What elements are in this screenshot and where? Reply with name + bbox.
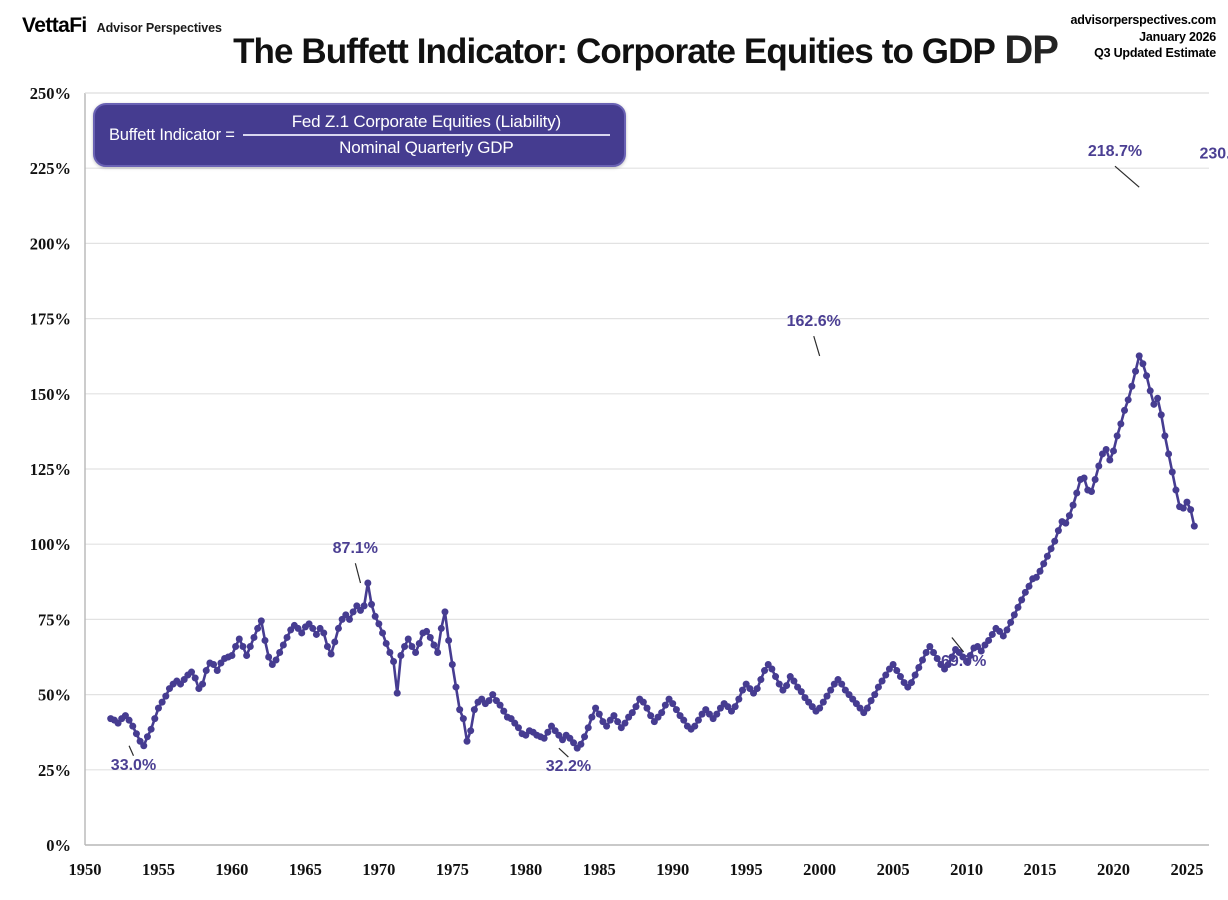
data-point (368, 601, 375, 608)
data-point (577, 741, 584, 748)
data-point (757, 676, 764, 683)
data-point (298, 629, 305, 636)
data-point (1073, 490, 1080, 497)
data-point (159, 699, 166, 706)
x-axis-tick-label: 1955 (142, 860, 175, 879)
data-point (1183, 499, 1190, 506)
data-point (471, 706, 478, 713)
data-point (585, 724, 592, 731)
data-point (735, 696, 742, 703)
data-point (144, 733, 151, 740)
x-axis-tick-label: 1950 (69, 860, 102, 879)
data-point (379, 629, 386, 636)
y-axis-tick-label: 150% (30, 385, 71, 404)
data-point (596, 711, 603, 718)
data-point (276, 649, 283, 656)
data-point (1048, 545, 1055, 552)
data-point (1037, 568, 1044, 575)
data-point (408, 643, 415, 650)
annotation-leader-line (355, 563, 360, 583)
data-point (926, 643, 933, 650)
data-point (1051, 538, 1058, 545)
data-point (934, 655, 941, 662)
data-point (515, 724, 522, 731)
data-point (1003, 626, 1010, 633)
data-point (331, 638, 338, 645)
data-point (1165, 450, 1172, 457)
data-point (1092, 476, 1099, 483)
data-point (1169, 469, 1176, 476)
data-point (412, 649, 419, 656)
data-annotation-label: 32.2% (546, 758, 591, 775)
data-point (1066, 512, 1073, 519)
data-point (1114, 432, 1121, 439)
data-point (581, 733, 588, 740)
data-point (1095, 462, 1102, 469)
data-point (239, 643, 246, 650)
data-point (350, 608, 357, 615)
data-point (732, 703, 739, 710)
data-point (280, 641, 287, 648)
data-point (383, 640, 390, 647)
data-point (236, 635, 243, 642)
y-axis-tick-label: 75% (38, 610, 71, 629)
data-point (644, 705, 651, 712)
data-point (1011, 611, 1018, 618)
data-point (871, 691, 878, 698)
data-point (261, 637, 268, 644)
data-point (445, 637, 452, 644)
x-axis-tick-label: 1975 (436, 860, 469, 879)
data-annotation-label: 162.6% (787, 313, 841, 330)
data-point (460, 715, 467, 722)
data-point (416, 640, 423, 647)
data-point (335, 625, 342, 632)
data-point (1040, 560, 1047, 567)
data-point (232, 643, 239, 650)
data-point (816, 705, 823, 712)
data-annotation-label: 33.0% (111, 757, 156, 774)
data-point (838, 681, 845, 688)
data-point (1026, 583, 1033, 590)
data-point (467, 727, 474, 734)
x-axis-tick-label: 2025 (1170, 860, 1203, 879)
data-point (1088, 488, 1095, 495)
data-point (1128, 383, 1135, 390)
data-point (497, 702, 504, 709)
data-annotation-label: 218.7% (1088, 143, 1142, 160)
y-axis-tick-label: 0% (46, 836, 71, 855)
data-point (713, 711, 720, 718)
data-point (603, 723, 610, 730)
data-point (647, 712, 654, 719)
data-point (1172, 487, 1179, 494)
data-point (372, 613, 379, 620)
data-point (456, 706, 463, 713)
data-point (673, 706, 680, 713)
data-point (1143, 372, 1150, 379)
data-point (827, 687, 834, 694)
data-point (243, 652, 250, 659)
data-point (133, 730, 140, 737)
data-point (441, 608, 448, 615)
data-point (691, 723, 698, 730)
data-point (882, 672, 889, 679)
data-point (544, 729, 551, 736)
data-point (126, 717, 133, 724)
data-point (1158, 411, 1165, 418)
data-point (629, 709, 636, 716)
x-axis-tick-label: 1985 (583, 860, 616, 879)
data-point (1139, 360, 1146, 367)
y-axis-tick-label: 125% (30, 460, 71, 479)
data-point (1070, 502, 1077, 509)
data-point (614, 718, 621, 725)
data-point (1044, 553, 1051, 560)
data-point (324, 643, 331, 650)
x-axis-tick-label: 1960 (215, 860, 248, 879)
y-axis-tick-label: 25% (38, 761, 71, 780)
data-point (452, 684, 459, 691)
y-axis-tick-label: 100% (30, 535, 71, 554)
formula-callout-box: Buffett Indicator = Fed Z.1 Corporate Eq… (93, 103, 626, 167)
data-point (188, 669, 195, 676)
data-point (449, 661, 456, 668)
data-point (148, 726, 155, 733)
data-point (985, 637, 992, 644)
data-point (1000, 632, 1007, 639)
data-point (1033, 574, 1040, 581)
data-point (923, 649, 930, 656)
data-point (897, 673, 904, 680)
data-point (820, 699, 827, 706)
data-point (394, 690, 401, 697)
data-point (588, 714, 595, 721)
data-point (908, 679, 915, 686)
data-point (1062, 520, 1069, 527)
data-point (228, 652, 235, 659)
data-point (199, 681, 206, 688)
data-point (427, 634, 434, 641)
data-point (1022, 589, 1029, 596)
data-point (754, 685, 761, 692)
data-point (680, 717, 687, 724)
data-point (1180, 505, 1187, 512)
data-point (1103, 446, 1110, 453)
data-point (1187, 506, 1194, 513)
x-axis-tick-label: 1995 (730, 860, 763, 879)
data-annotation-label: 230.3% (1199, 145, 1228, 162)
x-axis-tick-label: 2005 (877, 860, 910, 879)
formula-numerator: Fed Z.1 Corporate Equities (Liability) (292, 112, 561, 133)
data-point (214, 667, 221, 674)
data-point (823, 693, 830, 700)
data-point (768, 666, 775, 673)
data-point (464, 738, 471, 745)
data-point (364, 580, 371, 587)
data-point (438, 625, 445, 632)
data-point (1150, 401, 1157, 408)
data-point (658, 709, 665, 716)
data-point (1014, 604, 1021, 611)
y-axis-tick-label: 200% (30, 234, 71, 253)
data-point (397, 652, 404, 659)
data-point (386, 649, 393, 656)
data-point (640, 699, 647, 706)
data-point (1117, 420, 1124, 427)
x-axis-tick-label: 2010 (950, 860, 983, 879)
annotation-leader-line (129, 746, 133, 756)
data-point (320, 629, 327, 636)
x-axis-tick-label: 2020 (1097, 860, 1130, 879)
data-point (592, 705, 599, 712)
data-point (155, 705, 162, 712)
data-point (1125, 396, 1132, 403)
data-point (250, 634, 257, 641)
data-point (500, 708, 507, 715)
data-point (140, 742, 147, 749)
data-point (401, 643, 408, 650)
data-point (541, 735, 548, 742)
data-point (621, 720, 628, 727)
formula-label: Buffett Indicator = (109, 126, 235, 145)
data-point (1106, 456, 1113, 463)
data-annotation-label: 87.1% (333, 540, 378, 557)
data-point (284, 634, 291, 641)
data-point (1132, 368, 1139, 375)
data-point (129, 723, 136, 730)
y-axis-tick-label: 225% (30, 159, 71, 178)
data-point (783, 682, 790, 689)
data-point (258, 617, 265, 624)
data-point (761, 667, 768, 674)
x-axis-tick-label: 2000 (803, 860, 836, 879)
data-point (868, 697, 875, 704)
data-point (864, 705, 871, 712)
data-point (313, 631, 320, 638)
data-point (879, 678, 886, 685)
data-point (254, 625, 261, 632)
data-annotation-label: 69.0% (941, 653, 986, 670)
series-line (111, 356, 1195, 748)
data-point (1018, 596, 1025, 603)
formula-denominator: Nominal Quarterly GDP (339, 138, 513, 158)
data-point (361, 602, 368, 609)
data-point (772, 673, 779, 680)
data-point (430, 641, 437, 648)
data-point (915, 664, 922, 671)
annotation-leader-line (814, 336, 820, 356)
data-point (890, 661, 897, 668)
data-point (798, 688, 805, 695)
data-point (669, 700, 676, 707)
x-axis-tick-label: 2015 (1024, 860, 1057, 879)
data-point (423, 628, 430, 635)
data-point (390, 658, 397, 665)
data-point (151, 715, 158, 722)
data-point (1161, 432, 1168, 439)
data-point (489, 691, 496, 698)
x-axis-tick-label: 1990 (656, 860, 689, 879)
data-point (434, 649, 441, 656)
data-point (1110, 447, 1117, 454)
data-point (695, 717, 702, 724)
data-point (309, 625, 316, 632)
data-point (662, 702, 669, 709)
data-point (989, 631, 996, 638)
data-point (875, 684, 882, 691)
data-point (1147, 387, 1154, 394)
data-point (1081, 475, 1088, 482)
data-point (1007, 619, 1014, 626)
data-point (1191, 523, 1198, 530)
data-point (893, 667, 900, 674)
data-point (375, 620, 382, 627)
data-point (328, 650, 335, 657)
data-point (610, 712, 617, 719)
data-point (790, 678, 797, 685)
data-point (1136, 352, 1143, 359)
data-point (1055, 527, 1062, 534)
annotation-leader-line (559, 748, 569, 757)
data-point (346, 616, 353, 623)
data-point (632, 703, 639, 710)
data-point (192, 675, 199, 682)
fraction-bar-divider (243, 134, 610, 136)
data-point (1154, 395, 1161, 402)
data-point (265, 654, 272, 661)
formula-fraction: Fed Z.1 Corporate Equities (Liability) N… (243, 112, 610, 158)
data-point (739, 687, 746, 694)
annotation-leader-line (1115, 166, 1139, 187)
data-point (162, 693, 169, 700)
data-point (405, 635, 412, 642)
y-axis-tick-label: 50% (38, 686, 71, 705)
x-axis-tick-label: 1965 (289, 860, 322, 879)
data-point (930, 649, 937, 656)
data-point (247, 643, 254, 650)
data-point (203, 667, 210, 674)
data-point (210, 661, 217, 668)
data-point (1121, 407, 1128, 414)
x-axis-tick-label: 1970 (362, 860, 395, 879)
data-point (912, 672, 919, 679)
data-point (919, 657, 926, 664)
data-point (273, 657, 280, 664)
x-axis-tick-label: 1980 (509, 860, 542, 879)
y-axis-tick-label: 175% (30, 310, 71, 329)
y-axis-tick-label: 250% (30, 84, 71, 103)
data-point (486, 697, 493, 704)
data-point (776, 681, 783, 688)
